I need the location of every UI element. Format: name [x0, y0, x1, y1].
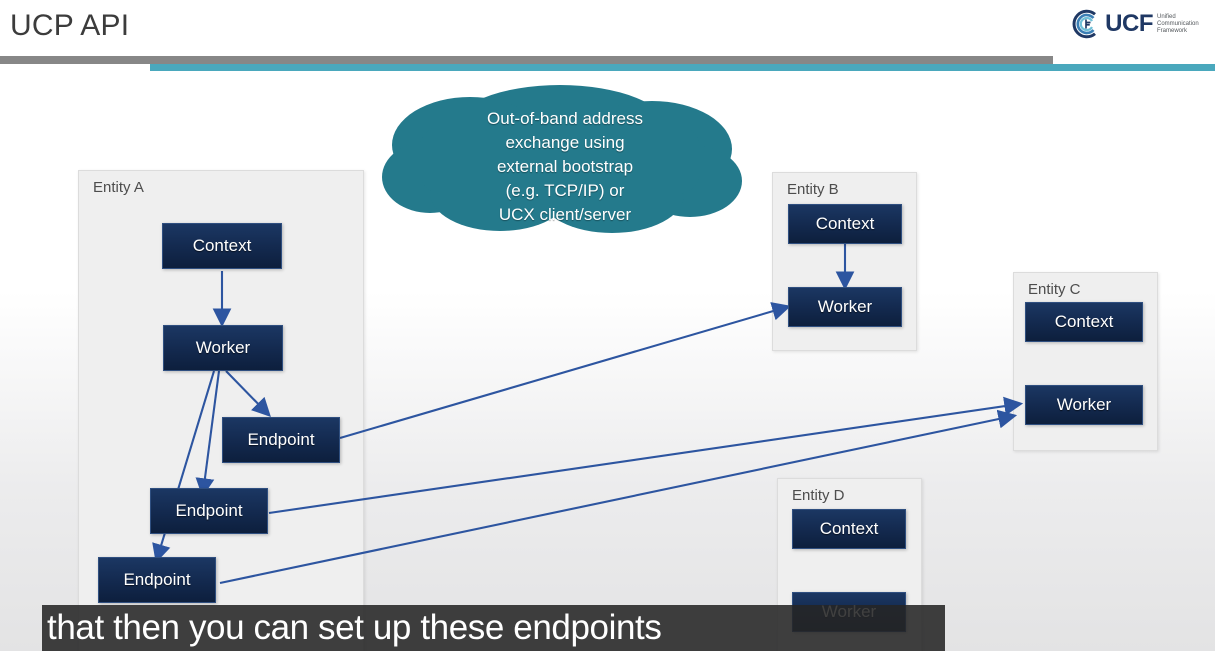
node-label: Context [1055, 312, 1114, 332]
ucf-tagline: Unified Communication Framework [1157, 14, 1209, 35]
edge-a-endpoint2-to-c-worker [269, 404, 1019, 513]
header-rule-teal [150, 64, 1215, 71]
ucf-wordmark: UCF [1105, 12, 1153, 36]
node-label: Worker [1057, 395, 1111, 415]
node-a-endpoint-3[interactable]: Endpoint [98, 557, 216, 603]
node-b-context[interactable]: Context [788, 204, 902, 244]
node-label: Context [820, 519, 879, 539]
node-label: Context [816, 214, 875, 234]
node-label: Worker [196, 338, 250, 358]
node-a-context[interactable]: Context [162, 223, 282, 269]
node-label: Endpoint [247, 430, 314, 450]
caption-text: that then you can set up these endpoints [47, 608, 947, 648]
ucf-logo: UCF Unified Communication Framework [1071, 9, 1209, 39]
ucf-swirl-icon [1071, 9, 1101, 39]
node-c-context[interactable]: Context [1025, 302, 1143, 342]
page-title: UCP API [10, 9, 129, 43]
slide-screenshot: UCP API UCF Unified Communication Framew… [0, 0, 1215, 651]
diagram-canvas: Entity A Entity B Entity C Entity D [0, 71, 1215, 651]
node-a-endpoint-2[interactable]: Endpoint [150, 488, 268, 534]
node-a-worker[interactable]: Worker [163, 325, 283, 371]
node-c-worker[interactable]: Worker [1025, 385, 1143, 425]
node-label: Endpoint [123, 570, 190, 590]
edge-a-worker-to-endpoint-2 [203, 371, 219, 493]
node-label: Worker [818, 297, 872, 317]
node-b-worker[interactable]: Worker [788, 287, 902, 327]
edge-a-endpoint1-to-b-worker [340, 307, 787, 438]
node-label: Endpoint [175, 501, 242, 521]
node-d-context[interactable]: Context [792, 509, 906, 549]
slide-header: UCP API UCF Unified Communication Framew… [0, 0, 1215, 63]
edge-a-worker-to-endpoint-1 [226, 371, 268, 414]
node-a-endpoint-1[interactable]: Endpoint [222, 417, 340, 463]
header-rule-gray [0, 56, 1053, 64]
node-label: Context [193, 236, 252, 256]
